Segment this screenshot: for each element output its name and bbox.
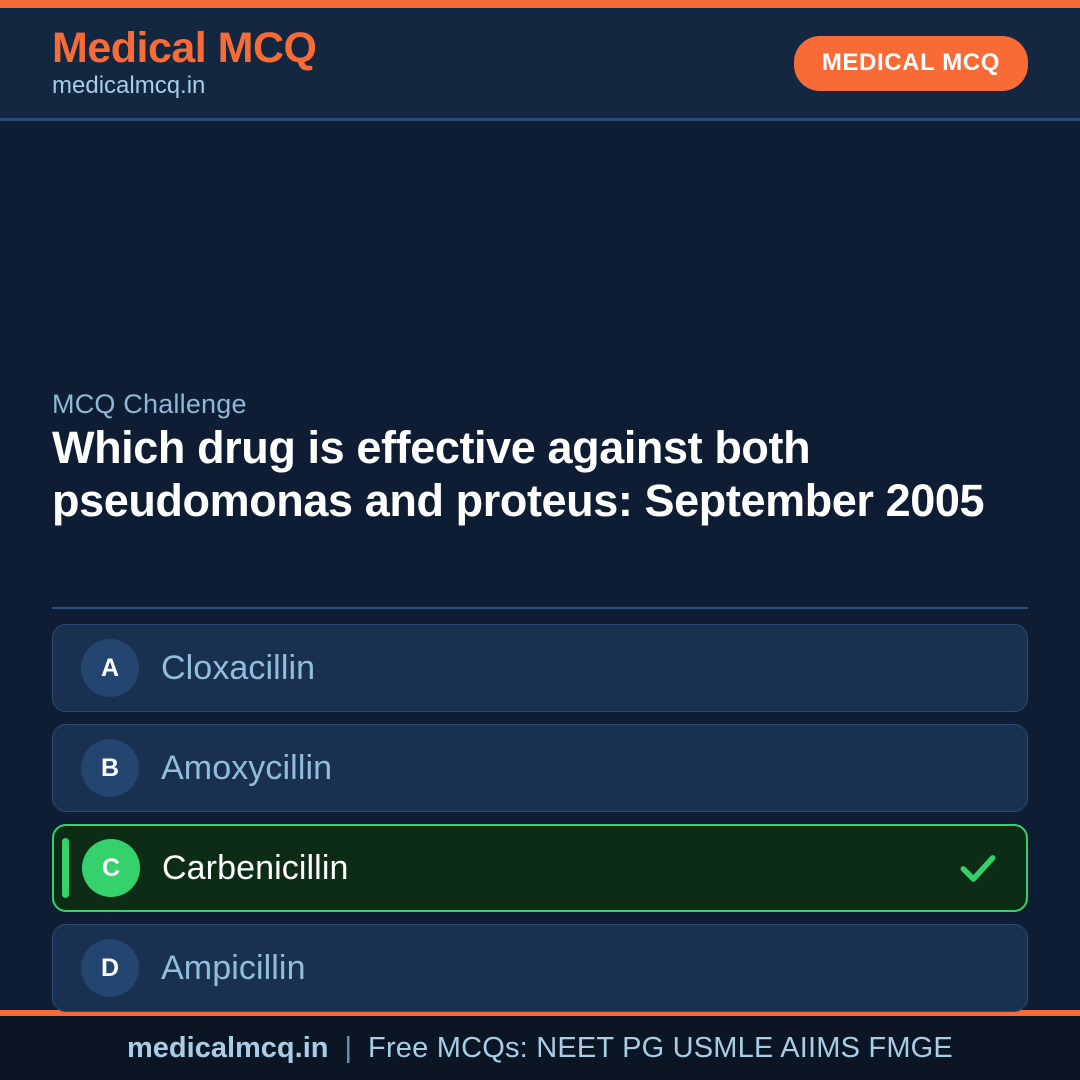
top-accent-bar bbox=[0, 0, 1080, 8]
option-letter-badge: C bbox=[82, 839, 140, 897]
footer-site[interactable]: medicalmcq.in bbox=[127, 1032, 328, 1065]
option-row-a[interactable]: A Cloxacillin bbox=[52, 624, 1028, 712]
check-icon bbox=[956, 846, 1000, 890]
option-letter-badge: A bbox=[81, 639, 139, 697]
option-row-c[interactable]: C Carbenicillin bbox=[52, 824, 1028, 912]
option-label: Carbenicillin bbox=[162, 849, 349, 888]
brand-title: Medical MCQ bbox=[52, 27, 317, 71]
option-label: Cloxacillin bbox=[161, 649, 315, 688]
footer-separator: | bbox=[344, 1032, 352, 1065]
option-row-d[interactable]: D Ampicillin bbox=[52, 924, 1028, 1012]
header-badge: MEDICAL MCQ bbox=[794, 36, 1028, 91]
option-label: Amoxycillin bbox=[161, 749, 332, 788]
header: Medical MCQ medicalmcq.in MEDICAL MCQ bbox=[0, 8, 1080, 121]
question-divider bbox=[52, 607, 1028, 609]
footer: medicalmcq.in | Free MCQs: NEET PG USMLE… bbox=[0, 1016, 1080, 1080]
option-letter-badge: D bbox=[81, 939, 139, 997]
option-label: Ampicillin bbox=[161, 949, 306, 988]
brand-block: Medical MCQ medicalmcq.in bbox=[52, 27, 317, 98]
option-row-b[interactable]: B Amoxycillin bbox=[52, 724, 1028, 812]
main-content: MCQ Challenge Which drug is effective ag… bbox=[0, 121, 1080, 1010]
mcq-card: Medical MCQ medicalmcq.in MEDICAL MCQ MC… bbox=[0, 0, 1080, 1080]
footer-exams: Free MCQs: NEET PG USMLE AIIMS FMGE bbox=[368, 1032, 953, 1065]
brand-subtitle: medicalmcq.in bbox=[52, 73, 317, 98]
question-text: Which drug is effective against both pse… bbox=[52, 421, 1012, 527]
eyebrow-label: MCQ Challenge bbox=[52, 389, 247, 420]
option-letter-badge: B bbox=[81, 739, 139, 797]
options-list: A Cloxacillin B Amoxycillin C Carbenicil… bbox=[52, 624, 1028, 1012]
